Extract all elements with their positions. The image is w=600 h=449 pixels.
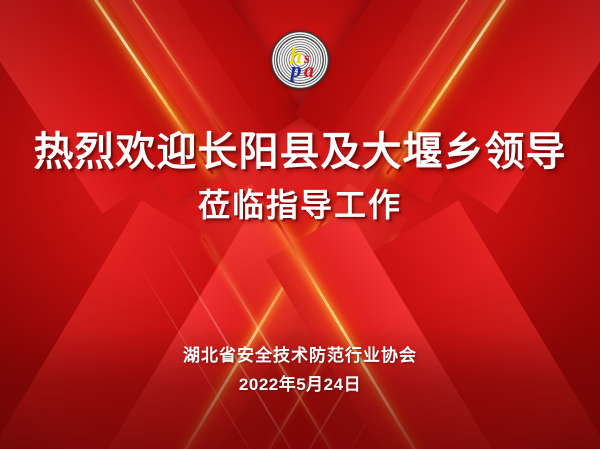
- page-title: 热烈欢迎长阳县及大堰乡领导: [34, 130, 567, 175]
- page-subtitle: 莅临指导工作: [198, 188, 402, 224]
- svg-text:p: p: [289, 57, 302, 82]
- hspa-logo: h s p a: [269, 29, 331, 91]
- welcome-banner-poster: h s p a 热烈欢迎长阳县及大堰乡领导 莅临指导工作 湖北省安全技术防范行业…: [0, 0, 600, 449]
- svg-text:a: a: [304, 60, 314, 82]
- poster-content: h s p a 热烈欢迎长阳县及大堰乡领导 莅临指导工作: [0, 0, 600, 449]
- hspa-circular-emblem-logo: h s p a: [269, 29, 331, 91]
